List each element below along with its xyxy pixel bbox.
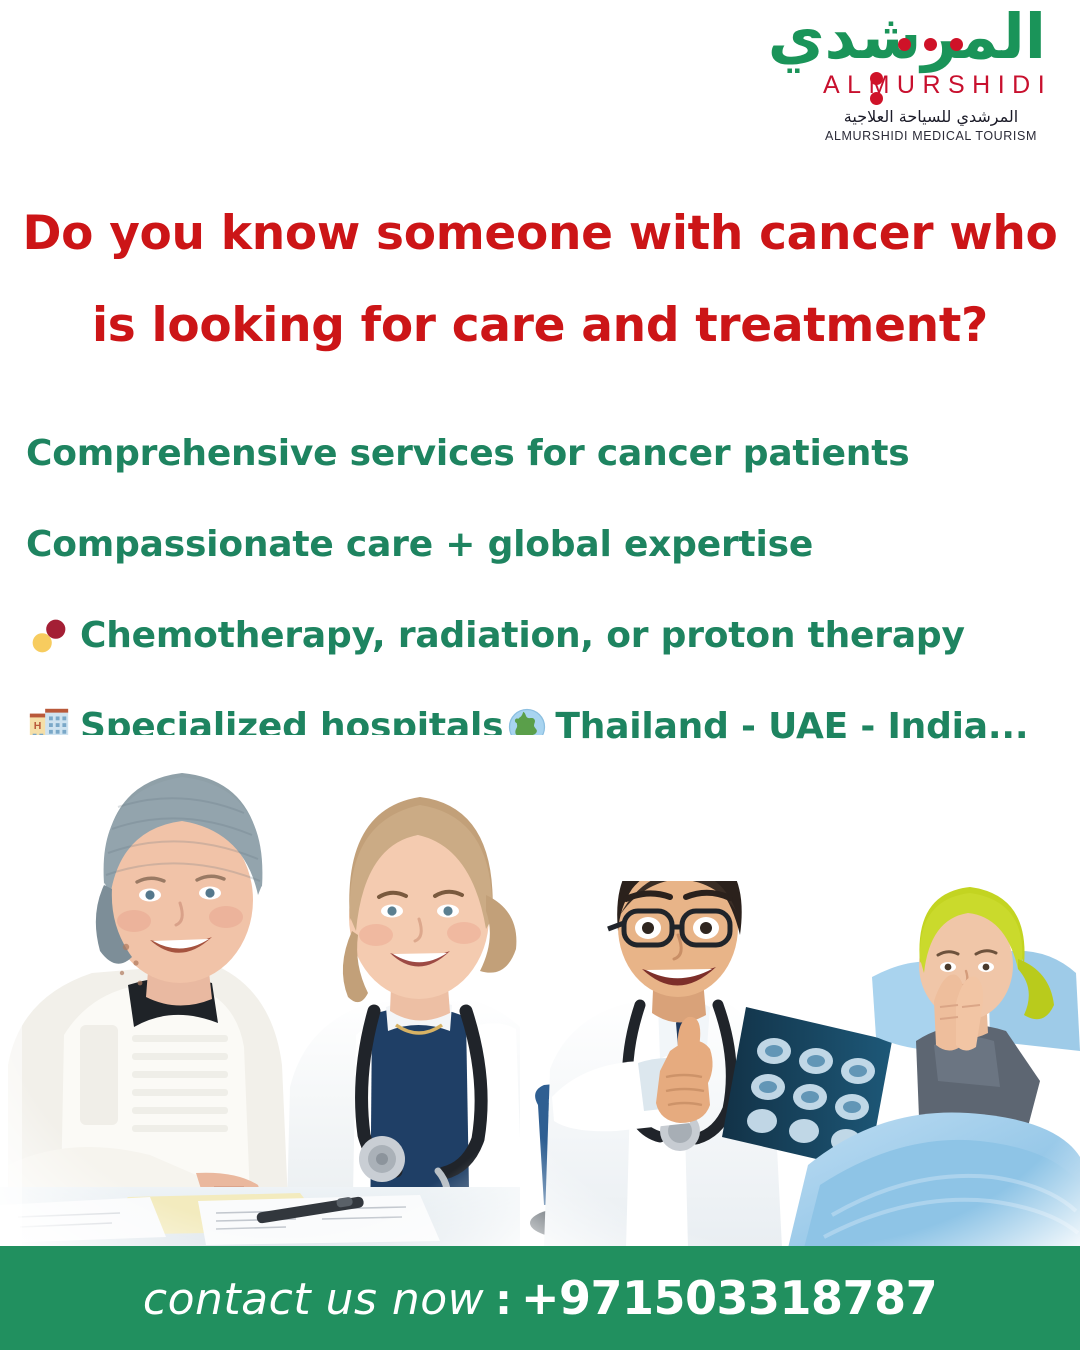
contact-bar: contact us now : +971503318787 [0, 1246, 1080, 1350]
benefit-label: Comprehensive services for cancer patien… [26, 433, 909, 474]
contact-inner: contact us now : +971503318787 [143, 1271, 937, 1325]
logo-english-tagline: ALMURSHIDI MEDICAL TOURISM [816, 129, 1046, 143]
contact-phone-number[interactable]: +971503318787 [521, 1271, 937, 1325]
benefit-label: Compassionate care + global expertise [26, 524, 813, 565]
headline-line-2: is looking for care and treatment? [0, 280, 1080, 372]
brand-logo: المرشدي ALMURSHIDI المرشدي للسياحة العلا… [816, 8, 1046, 143]
pill-icon [26, 613, 72, 659]
benefit-label: Chemotherapy, radiation, or proton thera… [80, 615, 965, 656]
poster: المرشدي ALMURSHIDI المرشدي للسياحة العلا… [0, 0, 1080, 1350]
contact-label: contact us now [143, 1274, 484, 1325]
svg-text:H: H [34, 719, 41, 731]
headline-line-1: Do you know someone with cancer who [0, 188, 1080, 280]
photo-doctor-thumbsup-and-bedridden-patient [520, 855, 1080, 1248]
benefit-item-care: Compassionate care + global expertise [26, 499, 1056, 590]
logo-arabic-mark: المرشدي [816, 8, 1046, 67]
photo-collage [0, 735, 1080, 1248]
headline: Do you know someone with cancer who is l… [0, 188, 1080, 372]
photo-patient-and-doctor [0, 735, 560, 1248]
contact-colon: : [495, 1275, 512, 1324]
logo-wordmark: ALMURSHIDI [816, 71, 1046, 100]
benefit-item-services: Comprehensive services for cancer patien… [26, 408, 1056, 499]
logo-arabic-tagline: المرشدي للسياحة العلاجية [816, 107, 1046, 126]
benefit-list: Comprehensive services for cancer patien… [26, 408, 1056, 772]
benefit-item-therapy: Chemotherapy, radiation, or proton thera… [26, 590, 1056, 681]
